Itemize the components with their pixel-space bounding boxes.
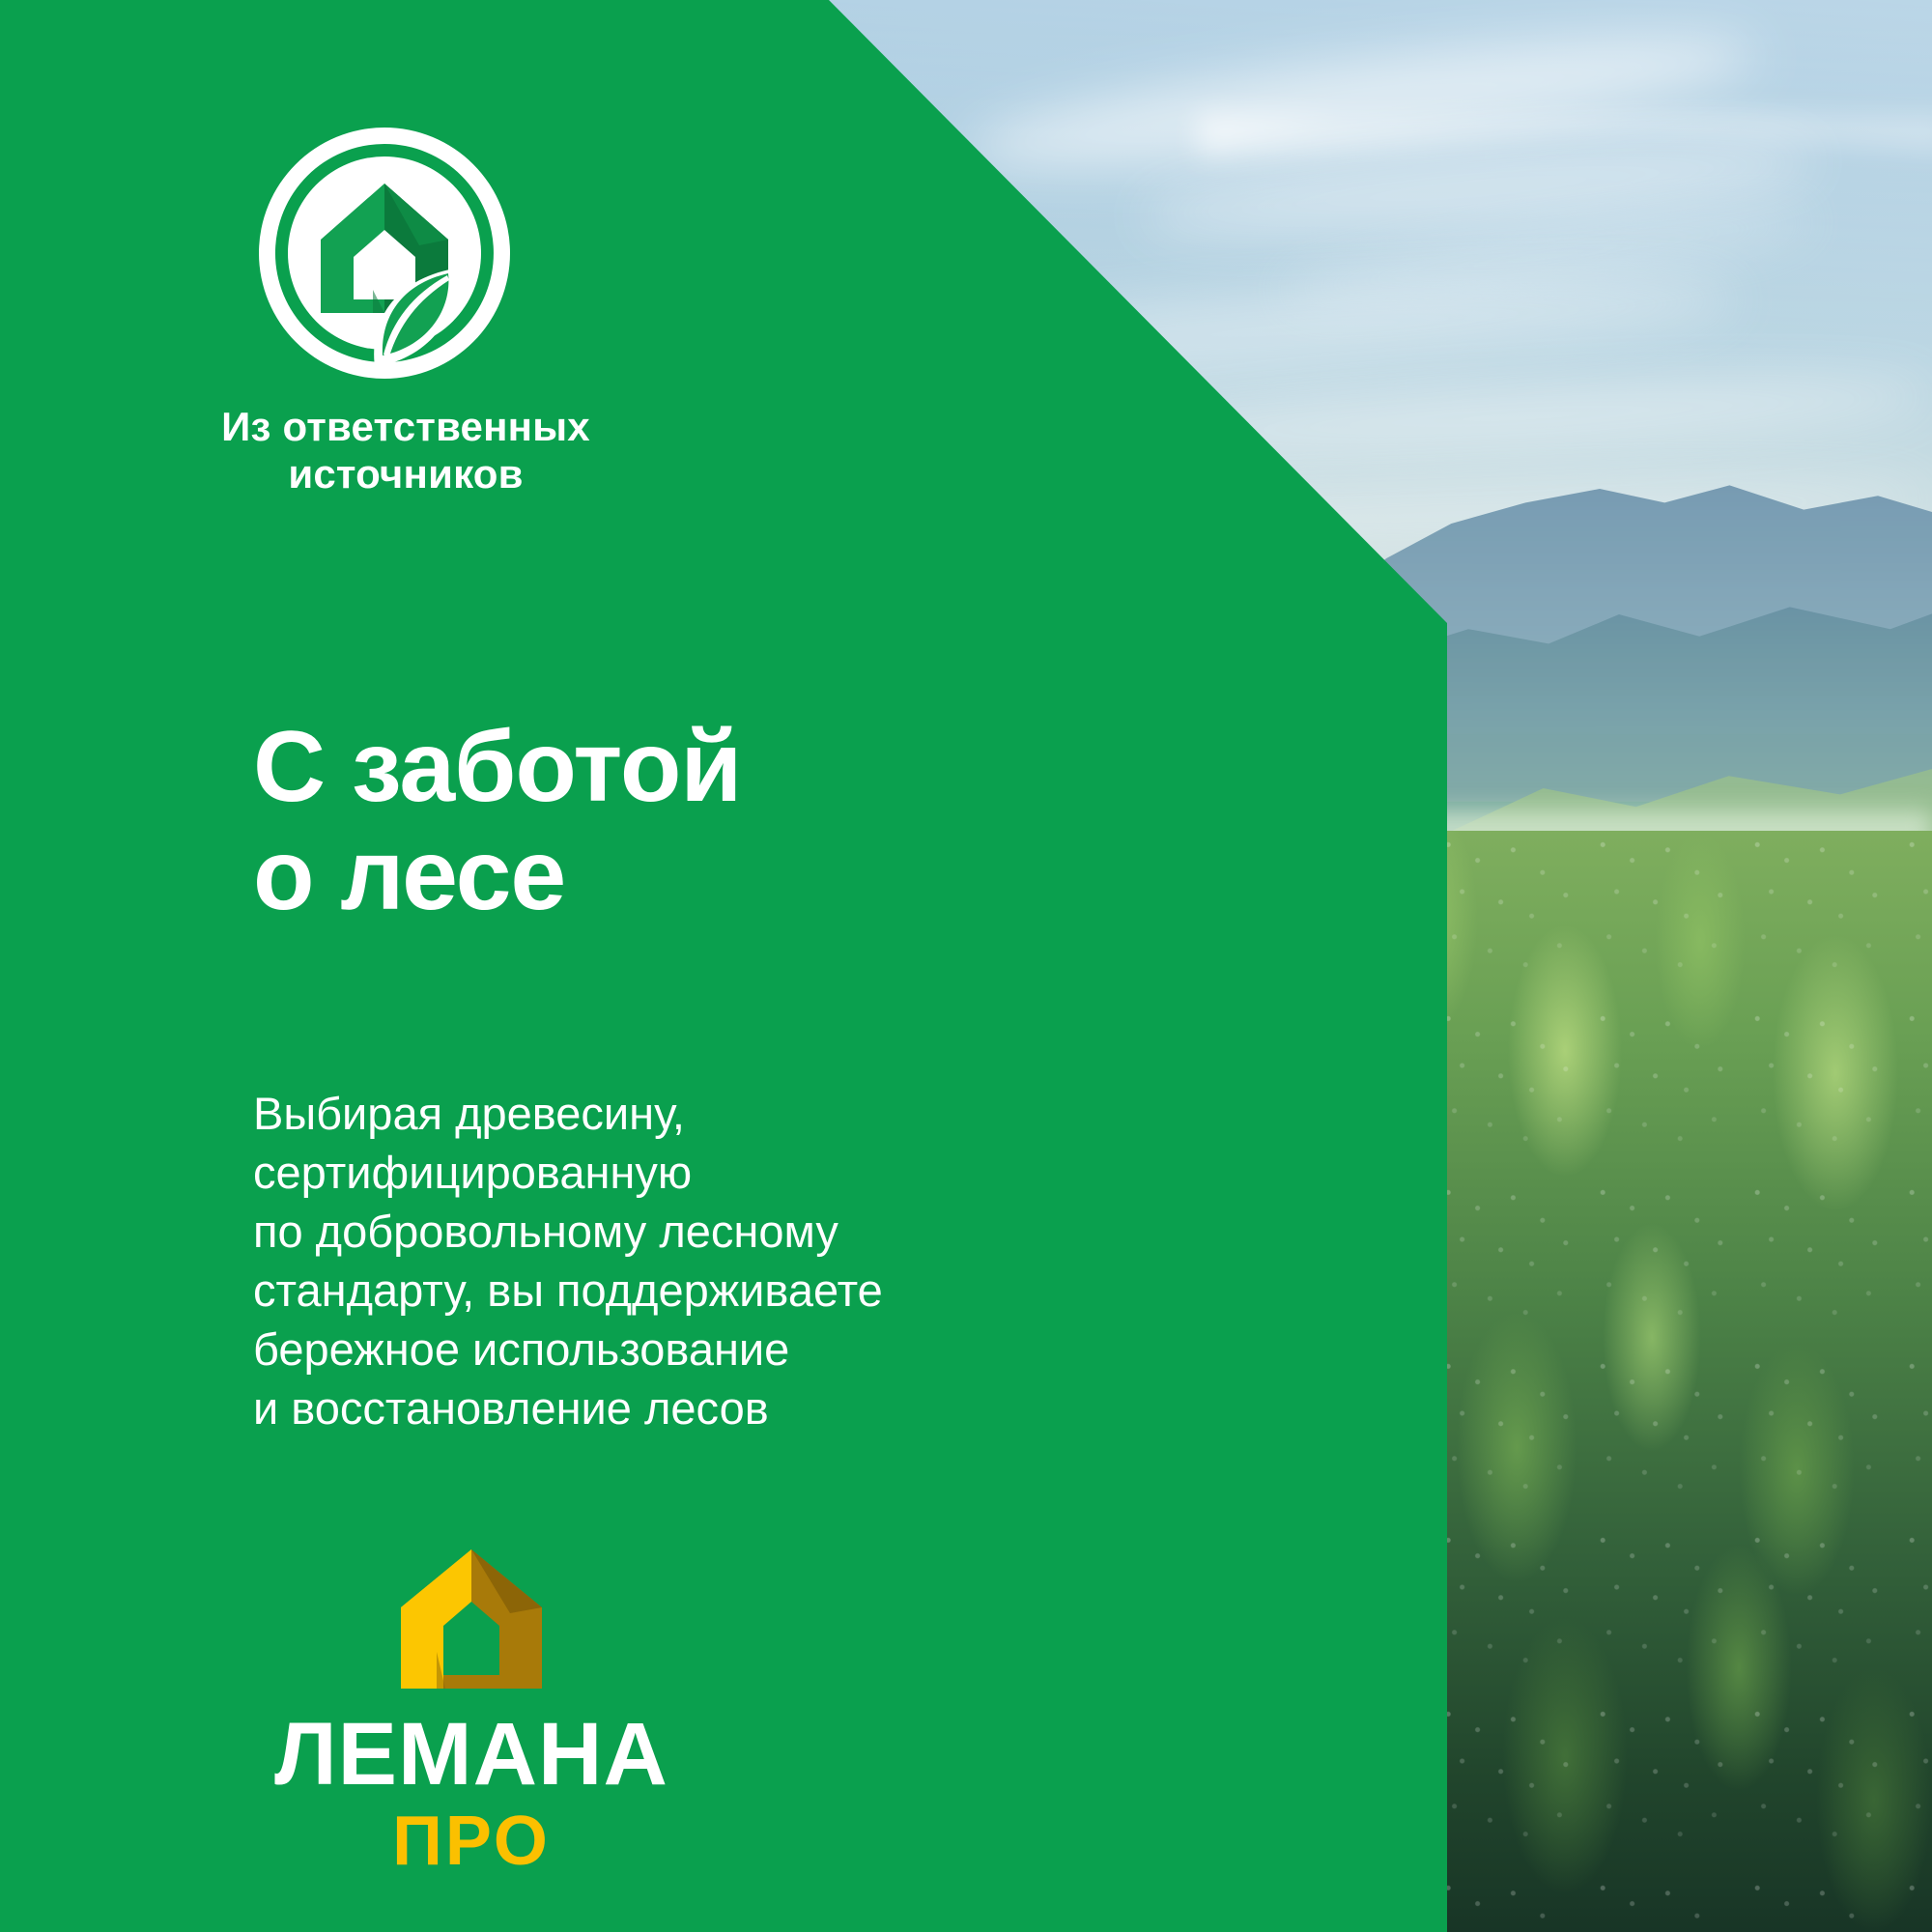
body-paragraph: Выбирая древесину, сертифицированную по … — [253, 1084, 883, 1438]
eco-badge-caption: Из ответственных источников — [213, 404, 599, 497]
content-column: Из ответственных источников С заботой о … — [0, 0, 1447, 1932]
lemana-house-icon — [384, 1546, 559, 1692]
brand-name: ЛЕМАНА — [249, 1710, 694, 1799]
brand-lockup: ЛЕМАНА ПРО — [249, 1546, 694, 1876]
page-title: С заботой о лесе — [253, 713, 741, 930]
brand-subname: ПРО — [249, 1806, 694, 1876]
poster-root: Из ответственных источников С заботой о … — [0, 0, 1932, 1932]
eco-badge: Из ответственных источников — [249, 124, 655, 497]
house-leaf-circle-icon — [255, 124, 514, 383]
